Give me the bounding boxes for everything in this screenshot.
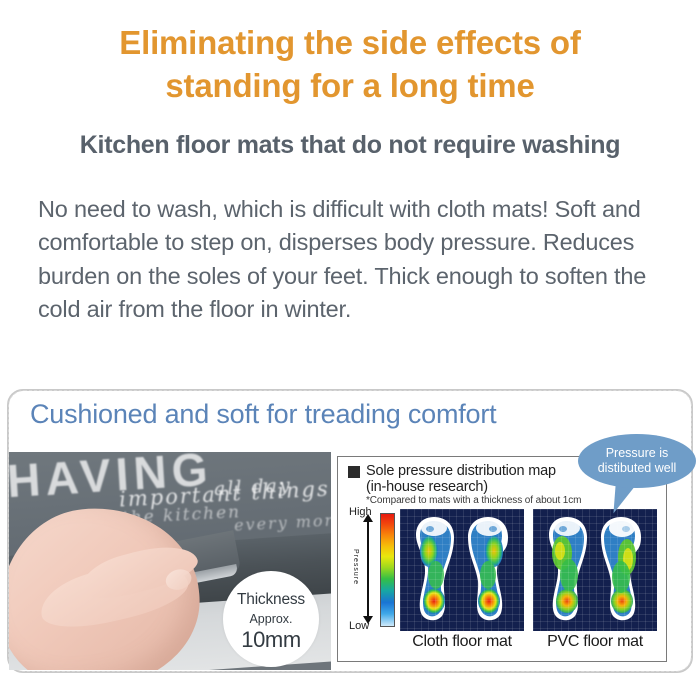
footprint-heatmap-left-cloth — [412, 515, 456, 623]
thickness-badge: Thickness Approx. 10mm — [223, 571, 319, 667]
footprint-heatmap-left-pvc — [545, 515, 589, 623]
footprint-heatmap-right-pvc — [599, 515, 643, 623]
square-bullet-icon — [348, 466, 360, 478]
footprint-heatmap-right-cloth — [466, 515, 510, 623]
pressure-scale: High Low Pressure — [347, 509, 395, 629]
pressure-map-title-line-2: (in-house research) — [366, 479, 556, 495]
page-headline: Eliminating the side effects of standing… — [0, 22, 700, 107]
thickness-label: Thickness — [223, 591, 319, 609]
thickness-value: 10mm — [223, 627, 319, 653]
speech-bubble-line-2: distibuted well — [598, 461, 677, 476]
scale-axis-label: Pressure — [352, 549, 359, 585]
map-label-pvc: PVC floor mat — [533, 633, 657, 651]
pressure-map-title-line-1: Sole pressure distribution map — [366, 463, 556, 479]
pressure-map-title-row: Sole pressure distribution map (in-house… — [348, 463, 556, 496]
pressure-map-labels: Cloth floor mat PVC floor mat — [400, 633, 658, 651]
pressure-map-title: Sole pressure distribution map (in-house… — [366, 463, 556, 496]
pressure-map-note: *Compared to mats with a thickness of ab… — [366, 495, 581, 506]
page-subheadline: Kitchen floor mats that do not require w… — [0, 131, 700, 160]
mat-script-text-5: every morning — [234, 508, 331, 535]
headline-line-2: standing for a long time — [0, 65, 700, 108]
thickness-approx-label: Approx. — [223, 612, 319, 626]
mat-script-text-3: all day — [213, 474, 292, 500]
body-paragraph: No need to wash, which is difficult with… — [38, 193, 666, 326]
speech-bubble: Pressure is distibuted well — [578, 434, 696, 488]
scale-colorbar — [380, 513, 395, 627]
pressure-panel-pvc — [533, 509, 657, 631]
feature-panel-title: Cushioned and soft for treading comfort — [30, 399, 496, 430]
pressure-map-panels — [400, 509, 658, 631]
pressure-panel-cloth — [400, 509, 524, 631]
map-label-cloth: Cloth floor mat — [400, 633, 524, 651]
headline-line-1: Eliminating the side effects of — [119, 24, 580, 61]
speech-bubble-line-1: Pressure is — [598, 446, 677, 461]
scale-double-arrow-icon — [367, 521, 369, 617]
